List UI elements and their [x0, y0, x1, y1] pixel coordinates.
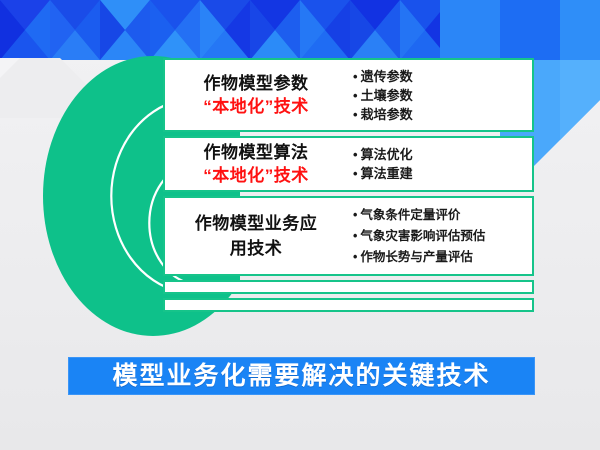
bullet-item: •算法重建: [353, 164, 532, 183]
tech-box-1[interactable]: 作物模型参数 “本地化”技术 •遗传参数 •土壤参数 •栽培参数: [163, 58, 534, 132]
bullet-marker-icon: •: [353, 205, 357, 226]
tech-box-1-title: 作物模型参数 “本地化”技术: [165, 72, 347, 118]
empty-strip-2[interactable]: [163, 298, 534, 312]
bullet-label: 作物长势与产量评估: [360, 250, 473, 264]
tech-box-2-title-line1: 作物模型算法: [204, 143, 309, 162]
bullet-item: •算法优化: [353, 145, 532, 164]
bullet-label: 土壤参数: [361, 88, 413, 103]
bullet-item: •气象灾害影响评估预估: [353, 226, 532, 247]
bullet-label: 栽培参数: [361, 107, 413, 122]
tech-box-2[interactable]: 作物模型算法 “本地化”技术 •算法优化 •算法重建: [163, 136, 534, 192]
bullet-marker-icon: •: [353, 145, 358, 164]
empty-strip-1[interactable]: [163, 280, 534, 294]
bullet-item: •作物长势与产量评估: [353, 247, 532, 268]
tech-box-3-title-line2: 用技术: [167, 236, 345, 261]
bullet-item: •土壤参数: [353, 86, 532, 105]
bullet-marker-icon: •: [353, 247, 357, 268]
bullet-marker-icon: •: [353, 105, 358, 124]
bullet-label: 气象条件定量评价: [360, 208, 460, 222]
tech-box-3-title-line1: 作物模型业务应: [195, 214, 318, 233]
tech-box-3[interactable]: 作物模型业务应 用技术 •气象条件定量评价 •气象灾害影响评估预估 •作物长势与…: [163, 196, 534, 276]
tech-box-3-title: 作物模型业务应 用技术: [165, 211, 347, 261]
tech-box-3-bullets: •气象条件定量评价 •气象灾害影响评估预估 •作物长势与产量评估: [347, 205, 532, 268]
slide-canvas: 作物模型参数 “本地化”技术 •遗传参数 •土壤参数 •栽培参数 作物模型算法 …: [0, 0, 600, 450]
bullet-label: 遗传参数: [361, 69, 413, 84]
bottom-banner-text: 模型业务化需要解决的关键技术: [112, 361, 490, 391]
bullet-item: •遗传参数: [353, 67, 532, 86]
tech-box-2-title-line2: “本地化”技术: [167, 164, 345, 187]
bullet-marker-icon: •: [353, 67, 358, 86]
bullet-marker-icon: •: [353, 226, 357, 247]
bullet-label: 算法优化: [361, 147, 413, 162]
bullet-label: 算法重建: [361, 166, 413, 181]
bullet-marker-icon: •: [353, 86, 358, 105]
bullet-item: •气象条件定量评价: [353, 205, 532, 226]
bullet-item: •栽培参数: [353, 105, 532, 124]
tech-box-2-title: 作物模型算法 “本地化”技术: [165, 141, 347, 187]
tech-box-2-bullets: •算法优化 •算法重建: [347, 145, 532, 183]
tech-box-1-title-line2: “本地化”技术: [167, 95, 345, 118]
tech-box-1-bullets: •遗传参数 •土壤参数 •栽培参数: [347, 67, 532, 124]
bottom-title-banner: 模型业务化需要解决的关键技术: [68, 357, 535, 395]
technology-box-list: 作物模型参数 “本地化”技术 •遗传参数 •土壤参数 •栽培参数 作物模型算法 …: [163, 58, 534, 316]
tech-box-1-title-line1: 作物模型参数: [204, 74, 309, 93]
bullet-label: 气象灾害影响评估预估: [360, 229, 485, 243]
bullet-marker-icon: •: [353, 164, 358, 183]
